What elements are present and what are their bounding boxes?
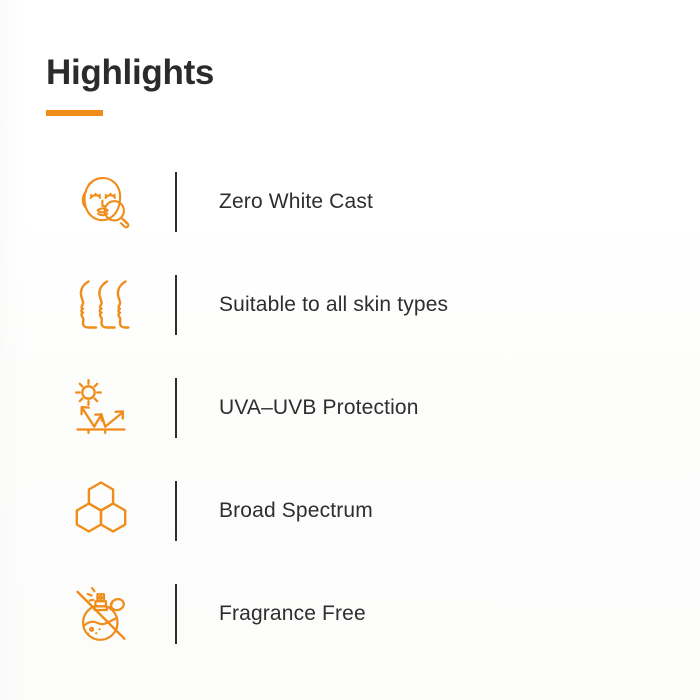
- no-perfume-bottle-icon: [64, 577, 138, 651]
- title-accent-bar: [46, 110, 103, 116]
- highlight-label: Broad Spectrum: [219, 497, 373, 525]
- highlight-label: Suitable to all skin types: [219, 291, 448, 319]
- page-title: Highlights: [46, 52, 214, 94]
- highlights-page: Highlights: [0, 0, 700, 700]
- highlight-label: Zero White Cast: [219, 188, 373, 216]
- list-item: Broad Spectrum: [0, 459, 700, 562]
- row-divider: [175, 378, 177, 438]
- face-profiles-icon: [64, 268, 138, 342]
- row-divider: [175, 172, 177, 232]
- row-divider: [175, 481, 177, 541]
- row-divider: [175, 584, 177, 644]
- face-magnifier-icon: [64, 165, 138, 239]
- highlights-list: Zero White Cast Suitable to all skin typ…: [0, 150, 700, 665]
- list-item: Zero White Cast: [0, 150, 700, 253]
- page-header: Highlights: [46, 52, 214, 116]
- sun-reflect-arrows-icon: [64, 371, 138, 445]
- row-divider: [175, 275, 177, 335]
- honeycomb-hexagons-icon: [64, 474, 138, 548]
- list-item: Fragrance Free: [0, 562, 700, 665]
- list-item: Suitable to all skin types: [0, 253, 700, 356]
- highlight-label: UVA–UVB Protection: [219, 394, 419, 422]
- highlight-label: Fragrance Free: [219, 600, 366, 628]
- list-item: UVA–UVB Protection: [0, 356, 700, 459]
